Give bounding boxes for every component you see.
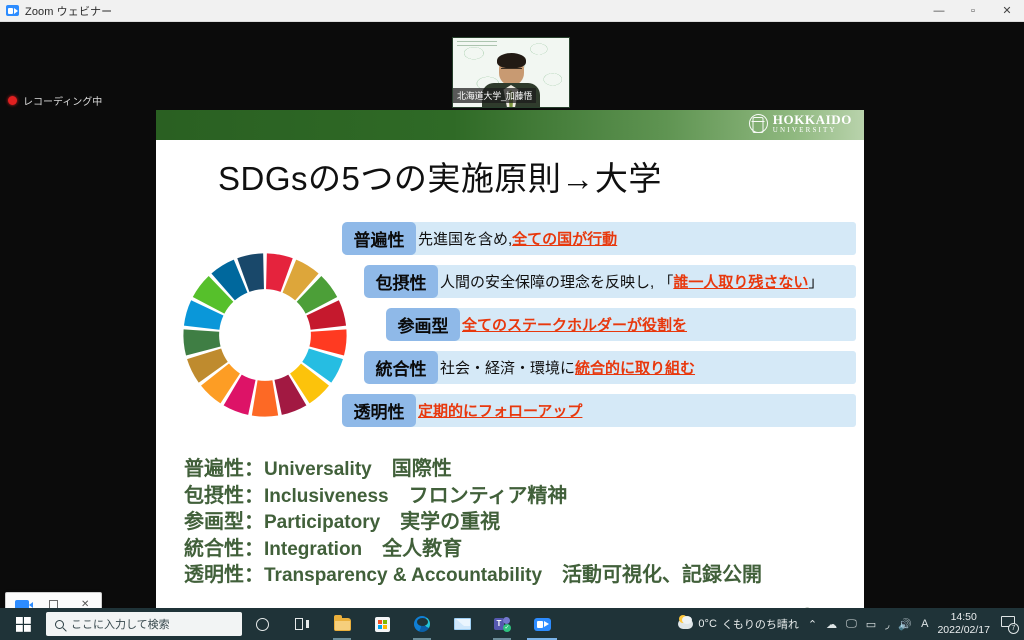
zoom-taskbar-button[interactable] [522,608,562,640]
windows-start-icon [16,617,31,632]
principle-text-highlight: 統合的に取り組む [575,357,695,378]
wifi-icon[interactable]: ◞ [885,618,889,631]
window-titlebar: Zoom ウェビナー — ▫ ✕ [0,0,1024,22]
cortana-button[interactable] [242,608,282,640]
windows-taskbar: ここに入力して検索 T✓ 0°C くもりのち晴れ ⌃ ☁ 🖵 ▭ ◞ 🔊 [0,608,1024,640]
clock-time: 14:50 [937,611,990,624]
microsoft-edge-icon [414,616,430,632]
principle-description: 社会・経済・環境に統合的に取り組む [440,351,695,384]
principle-label-chip: 統合性 [364,351,438,384]
mapping-keyword: 活動可視化、記録公開 [562,564,762,586]
system-tray: 0°C くもりのち晴れ ⌃ ☁ 🖵 ▭ ◞ 🔊 A 14:50 2022/02/… [678,611,1024,637]
microsoft-store-icon [375,617,390,632]
hokkaido-university-crest-icon [749,114,768,133]
recording-label: レコーディング中 [23,93,102,108]
task-view-button[interactable] [282,608,322,640]
window-title: Zoom ウェビナー [25,3,112,19]
background-text-decoration [457,41,497,49]
mail-button[interactable] [442,608,482,640]
minimize-button[interactable]: — [922,0,956,22]
start-button[interactable] [0,608,46,640]
sdgs-color-wheel-icon [180,250,350,420]
participant-name-label: 北海道大学_加藤悟 [453,88,536,103]
principle-label-chip: 包摂性 [364,265,438,298]
principle-text-plain: 社会・経済・環境に [440,357,575,378]
university-subtitle: UNIVERSITY [773,127,852,134]
volume-icon[interactable]: 🔊 [898,618,912,631]
microsoft-store-button[interactable] [362,608,402,640]
zoom-icon [534,618,551,631]
principle-text-highlight: 定期的にフォローアップ [418,400,582,421]
mapping-principle-en: Transparency & Accountability [264,565,542,586]
mapping-principle-en: Inclusiveness [264,486,389,507]
mapping-principle-jp: 透明性： [184,564,264,586]
sdgs-wheel-segment [252,380,278,416]
maximize-button[interactable]: ▫ [956,0,990,22]
mapping-keyword: 実学の重視 [400,511,500,533]
university-name: HOKKAIDO [773,113,852,126]
mapping-line: 参画型：Participatory実学の重視 [184,509,762,536]
cortana-icon [256,618,269,631]
principle-text-highlight: 全ての国が行動 [512,228,617,249]
window-controls: — ▫ ✕ [922,0,1024,22]
principle-text-highlight: 全てのステークホルダーが役割を [462,314,687,335]
principles-list: 普遍性先進国を含め, 全ての国が行動包摂性人間の安全保障の理念を反映し, 「誰一… [342,222,856,437]
chevron-up-icon[interactable]: ⌃ [808,618,817,631]
principle-description: 定期的にフォローアップ [418,394,582,427]
participant-hair [497,53,526,68]
principle-description: 全てのステークホルダーが役割を [462,308,687,341]
search-input[interactable]: ここに入力して検索 [46,612,242,636]
mapping-keyword: 国際性 [392,458,452,480]
file-explorer-icon [334,618,351,631]
participant-glasses [501,68,522,74]
action-center-button[interactable]: 7 [1001,616,1018,632]
principle-row: 普遍性先進国を含め, 全ての国が行動 [342,222,856,255]
mapping-principle-en: Participatory [264,512,380,533]
file-explorer-button[interactable] [322,608,362,640]
principle-text-plain-after: 」 [808,271,823,292]
microsoft-edge-button[interactable] [402,608,442,640]
mapping-line: 包摂性：Inclusivenessフロンティア精神 [184,483,762,510]
participant-head [499,56,524,85]
zoom-logo-icon [6,5,19,16]
principle-text-plain: 先進国を含め, [418,228,512,249]
mapping-keyword: 全人教育 [382,538,462,560]
principle-description: 人間の安全保障の理念を反映し, 「誰一人取り残さない」 [440,265,823,298]
mapping-principle-en: Integration [264,539,362,560]
mapping-line: 透明性：Transparency & Accountability活動可視化、記… [184,562,762,589]
task-view-icon [295,618,309,630]
weather-widget[interactable]: 0°C くもりのち晴れ [678,616,798,632]
mapping-keyword: フロンティア精神 [409,485,568,507]
hokkaido-university-logo: HOKKAIDO UNIVERSITY [749,113,852,134]
clock-date: 2022/02/17 [937,624,990,637]
mapping-principle-jp: 普遍性： [184,458,264,480]
slide-header-band: HOKKAIDO UNIVERSITY [156,110,864,140]
ime-a-icon[interactable]: A [921,618,928,630]
principle-label-chip: 透明性 [342,394,416,427]
principle-row: 透明性定期的にフォローアップ [342,394,856,427]
principle-row: 統合性社会・経済・環境に統合的に取り組む [342,351,856,384]
principle-text-highlight: 誰一人取り残さない [673,271,808,292]
principle-row: 包摂性人間の安全保障の理念を反映し, 「誰一人取り残さない」 [342,265,856,298]
mapping-principle-jp: 包摂性： [184,485,264,507]
microsoft-teams-icon: T✓ [494,617,510,631]
mapping-principle-jp: 参画型： [184,511,264,533]
mapping-line: 統合性：Integration全人教育 [184,536,762,563]
principle-label-chip: 普遍性 [342,222,416,255]
record-dot-icon [8,96,17,105]
principle-text-plain: 人間の安全保障の理念を反映し, 「 [440,271,673,292]
mapping-line: 普遍性：Universality国際性 [184,456,762,483]
principle-description: 先進国を含め, 全ての国が行動 [418,222,617,255]
clock[interactable]: 14:50 2022/02/17 [937,611,990,637]
search-icon [55,620,64,629]
onedrive-icon[interactable]: ☁ [826,618,837,631]
shared-slide: HOKKAIDO UNIVERSITY SDGsの5つの実施原則→大学 普遍性先… [156,110,864,630]
zoom-meeting-canvas: レコーディング中 北海道大学_加藤悟 HOKKAIDO UNIVERSITY [0,22,1024,608]
close-button[interactable]: ✕ [990,0,1024,22]
search-placeholder: ここに入力して検索 [71,616,170,632]
weather-description: くもりのち晴れ [722,616,799,632]
principle-label-chip: 参画型 [386,308,460,341]
recording-indicator: レコーディング中 [8,93,102,108]
principle-mapping-list: 普遍性：Universality国際性包摂性：Inclusivenessフロンテ… [184,456,762,589]
slide-title: SDGsの5つの実施原則→大学 [218,152,662,200]
partly-cloudy-icon [678,619,693,629]
display-icon[interactable]: 🖵 [846,618,857,631]
notification-count: 7 [1008,623,1019,634]
mapping-principle-jp: 統合性： [184,538,264,560]
mapping-principle-en: Universality [264,459,372,480]
principle-row: 参画型全てのステークホルダーが役割を [342,308,856,341]
self-view-video[interactable]: 北海道大学_加藤悟 [452,37,570,108]
battery-icon[interactable]: ▭ [866,618,876,631]
mail-icon [454,618,471,630]
weather-temperature: 0°C [698,618,716,630]
microsoft-teams-button[interactable]: T✓ [482,608,522,640]
